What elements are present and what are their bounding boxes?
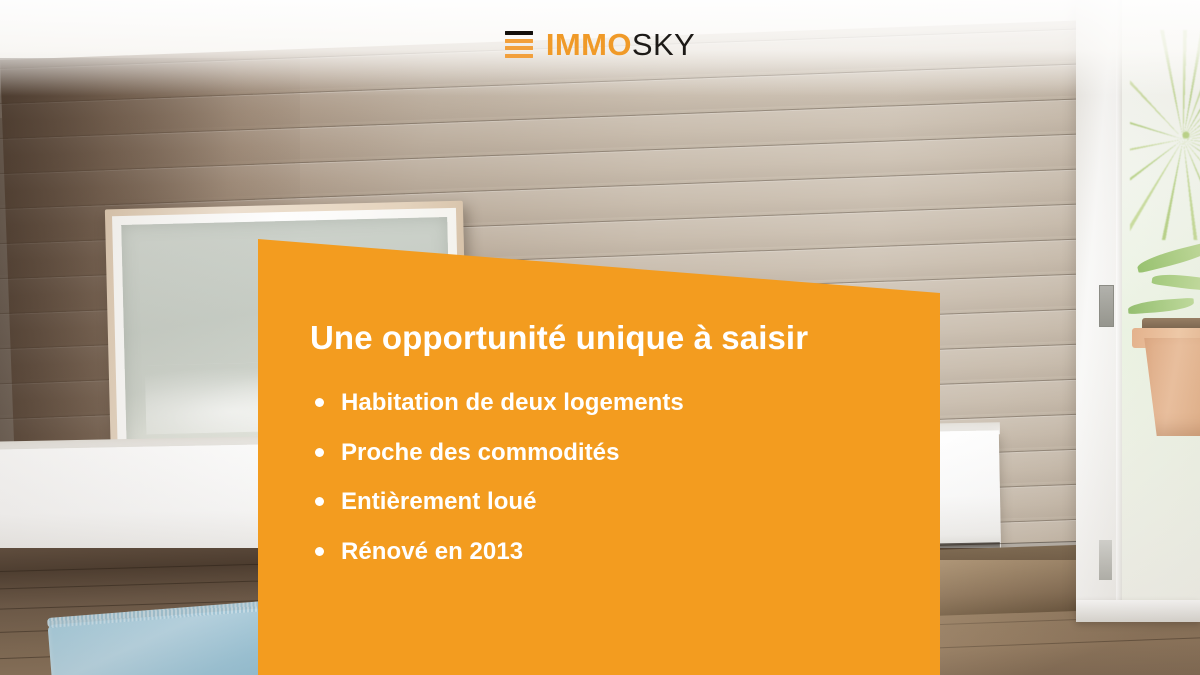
list-item-label: Rénové en 2013 bbox=[341, 538, 523, 566]
list-item: Rénové en 2013 bbox=[310, 538, 906, 566]
logo-text-sky: SKY bbox=[632, 27, 695, 62]
logo-wordmark: IMMOSKY bbox=[546, 29, 695, 60]
logo-text-immo: IMMO bbox=[546, 27, 632, 62]
door-strike-plate-icon bbox=[1099, 285, 1114, 327]
slide-stage: IMMOSKY Une opportunité unique à saisir … bbox=[0, 0, 1200, 675]
list-item-label: Proche des commodités bbox=[341, 439, 619, 467]
list-item-label: Entièrement loué bbox=[341, 488, 537, 516]
door-lower-hardware-icon bbox=[1099, 540, 1112, 580]
palm-leaf bbox=[1128, 298, 1195, 315]
immosky-logo[interactable]: IMMOSKY bbox=[505, 29, 695, 60]
list-item: Proche des commodités bbox=[310, 439, 906, 467]
terracotta-pot bbox=[1138, 338, 1200, 436]
header-band: IMMOSKY bbox=[0, 0, 1200, 96]
list-item-label: Habitation de deux logements bbox=[341, 389, 684, 417]
bullet-dot-icon bbox=[315, 398, 324, 407]
immosky-bars-icon bbox=[505, 31, 533, 58]
bullet-dot-icon bbox=[315, 547, 324, 556]
list-item: Entièrement loué bbox=[310, 488, 906, 516]
door-sill bbox=[1076, 600, 1200, 622]
palm-leaf bbox=[1151, 271, 1200, 294]
offer-panel-content: Une opportunité unique à saisir Habitati… bbox=[258, 236, 940, 675]
bullet-dot-icon bbox=[315, 448, 324, 457]
page-title: Une opportunité unique à saisir bbox=[310, 320, 906, 356]
offer-panel: Une opportunité unique à saisir Habitati… bbox=[258, 236, 940, 675]
bullet-dot-icon bbox=[315, 497, 324, 506]
list-item: Habitation de deux logements bbox=[310, 389, 906, 417]
palm-leaf bbox=[1135, 241, 1200, 274]
feature-list: Habitation de deux logementsProche des c… bbox=[310, 389, 906, 565]
